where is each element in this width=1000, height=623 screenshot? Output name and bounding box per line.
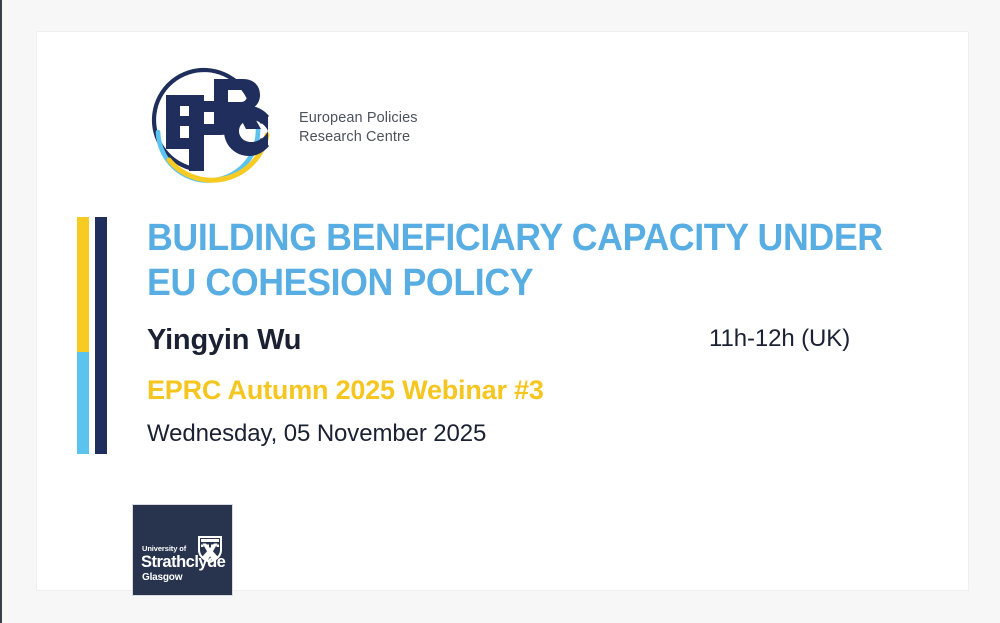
accent-bar-light-blue [77, 352, 89, 454]
accent-bar-yellow [77, 217, 89, 352]
strathclyde-logo: University of Strathclyde Glasgow [133, 505, 232, 595]
strathclyde-prefix: University of [142, 544, 186, 553]
eprc-tagline-line-1: European Policies [299, 109, 418, 128]
strathclyde-name: Strathclyde [141, 553, 225, 572]
left-edge-rule [0, 0, 2, 623]
webinar-series-label: EPRC Autumn 2025 Webinar #3 [147, 375, 947, 406]
eprc-tagline-line-2: Research Centre [299, 128, 418, 147]
strathclyde-city: Glasgow [142, 572, 182, 583]
eprc-logo-tagline: European Policies Research Centre [299, 109, 418, 147]
accent-bar-navy [95, 217, 107, 454]
eprc-logo: European Policies Research Centre [142, 57, 512, 192]
event-date: Wednesday, 05 November 2025 [147, 420, 947, 448]
presentation-slide: European Policies Research Centre BUILDI… [37, 32, 968, 590]
event-time: 11h-12h (UK) [709, 325, 850, 353]
eprc-logo-mark-icon [142, 57, 277, 192]
slide-title: BUILDING BENEFICIARY CAPACITY UNDER EU C… [147, 216, 899, 306]
accent-bars [77, 217, 111, 454]
